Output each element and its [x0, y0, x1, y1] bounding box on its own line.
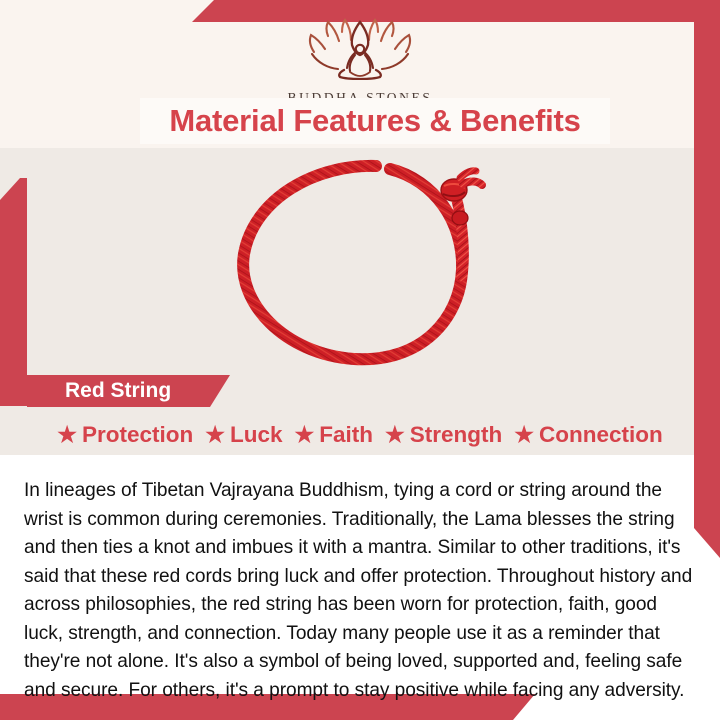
- product-label: Red String: [27, 379, 171, 403]
- feature-luck: ★ Luck: [205, 422, 282, 448]
- feature-list: ★ Protection ★ Luck ★ Faith ★ Strength ★…: [27, 418, 693, 452]
- feature-label: Luck: [230, 422, 283, 448]
- star-icon: ★: [205, 424, 225, 446]
- product-feature-poster: BUDDHA STONES Material Features & Benefi…: [0, 0, 720, 720]
- feature-label: Protection: [82, 422, 193, 448]
- brand-logo: BUDDHA STONES: [0, 18, 720, 106]
- product-label-banner: Red String: [27, 375, 230, 407]
- title-banner: Material Features & Benefits: [140, 98, 610, 144]
- description-text: In lineages of Tibetan Vajrayana Buddhis…: [24, 477, 696, 705]
- feature-label: Connection: [539, 422, 663, 448]
- star-icon: ★: [295, 424, 315, 446]
- feature-protection: ★ Protection: [57, 422, 193, 448]
- page-title: Material Features & Benefits: [169, 103, 580, 139]
- red-string-bracelet-image: [220, 150, 500, 375]
- feature-strength: ★ Strength: [385, 422, 502, 448]
- product-image-area: [0, 150, 720, 380]
- feature-faith: ★ Faith: [295, 422, 373, 448]
- star-icon: ★: [514, 424, 534, 446]
- feature-label: Faith: [319, 422, 373, 448]
- star-icon: ★: [385, 424, 405, 446]
- lotus-meditation-icon: [0, 18, 720, 85]
- star-icon: ★: [57, 424, 77, 446]
- feature-label: Strength: [410, 422, 503, 448]
- feature-connection: ★ Connection: [514, 422, 662, 448]
